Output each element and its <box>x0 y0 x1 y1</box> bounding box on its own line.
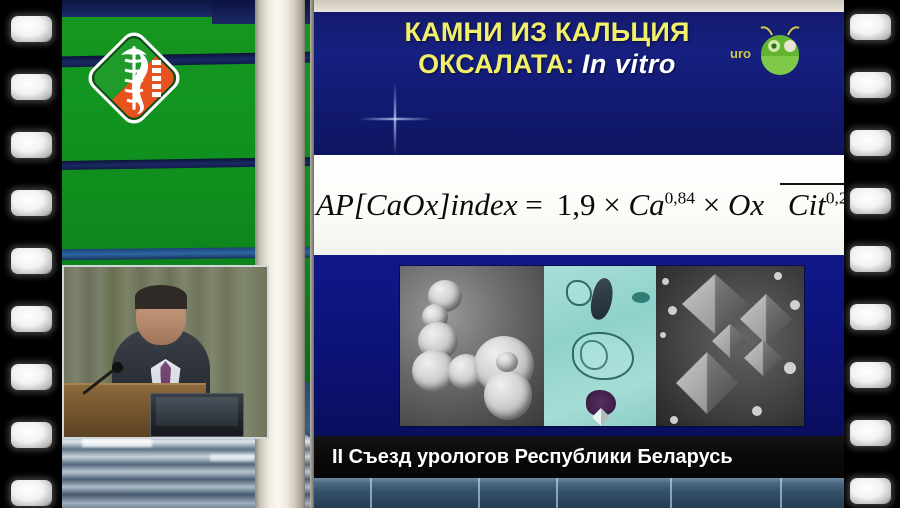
formula-expression: AP[CaOx]index = 1,9 × Ca0,84 × Ox Cit0,2… <box>316 187 844 223</box>
film-sprocket-hole <box>850 362 891 388</box>
film-sprocket-hole <box>11 248 52 274</box>
sparkle-icon <box>358 82 432 156</box>
slide-title-line2: ОКСАЛАТА: In vitro <box>310 50 784 79</box>
medical-caduceus-diamond-logo <box>78 22 190 134</box>
formula-equals: = <box>525 187 542 222</box>
slide-title-line2-latin: In vitro <box>582 49 676 79</box>
film-sprocket-hole <box>11 306 52 332</box>
film-sprocket-hole <box>850 478 891 504</box>
film-sprocket-hole <box>850 304 891 330</box>
film-sprocket-hole <box>11 132 52 158</box>
sem-stone-aggregate <box>400 266 544 426</box>
film-sprocket-hole <box>850 72 891 98</box>
formula-lhs: AP[CaOx]index = <box>316 187 543 223</box>
speaker-hair <box>135 285 187 309</box>
microphone-head <box>112 362 123 373</box>
film-sprocket-hole <box>11 422 52 448</box>
film-sprocket-hole <box>11 74 52 100</box>
micrograph-band <box>310 255 844 436</box>
uro-logo: uro <box>730 26 792 76</box>
video-frame: КАМНИ ИЗ КАЛЬЦИЯ ОКСАЛАТА: In vitro uro <box>0 0 900 508</box>
caption-text: II Съезд урологов Республики Беларусь <box>310 446 733 469</box>
film-sprocket-hole <box>850 188 891 214</box>
film-sprocket-hole <box>11 16 52 42</box>
micrograph-row <box>400 266 804 426</box>
uro-logo-text: uro <box>730 46 751 61</box>
formula-denominator: Cit0,22 × Mg0,12 × V1,0 <box>780 183 844 222</box>
film-sprocket-hole <box>850 246 891 272</box>
film-sprocket-hole <box>11 480 52 506</box>
laptop-screen <box>156 397 239 426</box>
film-sprocket-hole <box>850 130 891 156</box>
laptop <box>150 393 244 437</box>
desk-highlight-1 <box>82 438 152 447</box>
presentation-slide: КАМНИ ИЗ КАЛЬЦИЯ ОКСАЛАТА: In vitro uro <box>310 0 844 508</box>
formula-band: AP[CaOx]index = 1,9 × Ca0,84 × Ox Cit0,2… <box>310 155 844 255</box>
slide-top-edge <box>310 0 844 12</box>
light-micrograph-crystals <box>544 266 656 426</box>
slide-left-edge <box>310 0 314 508</box>
desk-highlight-2 <box>210 454 255 462</box>
formula-numerator: 1,9 × Ca0,84 × Ox <box>549 187 780 223</box>
film-sprocket-hole <box>11 190 52 216</box>
film-strip-left <box>0 0 62 508</box>
speaker-video-inset <box>62 265 269 439</box>
caption-bar: II Съезд урологов Республики Беларусь <box>310 436 844 478</box>
film-sprocket-hole <box>850 14 891 40</box>
film-sprocket-hole <box>850 420 891 446</box>
slide-title-line1: КАМНИ ИЗ КАЛЬЦИЯ <box>310 18 784 47</box>
formula-fraction: 1,9 × Ca0,84 × Ox Cit0,22 × Mg0,12 × V1,… <box>549 187 844 223</box>
slide-title-line2-ru: ОКСАЛАТА: <box>418 49 574 79</box>
film-strip-right <box>844 0 900 508</box>
film-sprocket-hole <box>11 364 52 390</box>
sem-octahedral-crystals <box>656 266 804 426</box>
slide-bottom-band <box>310 478 844 508</box>
